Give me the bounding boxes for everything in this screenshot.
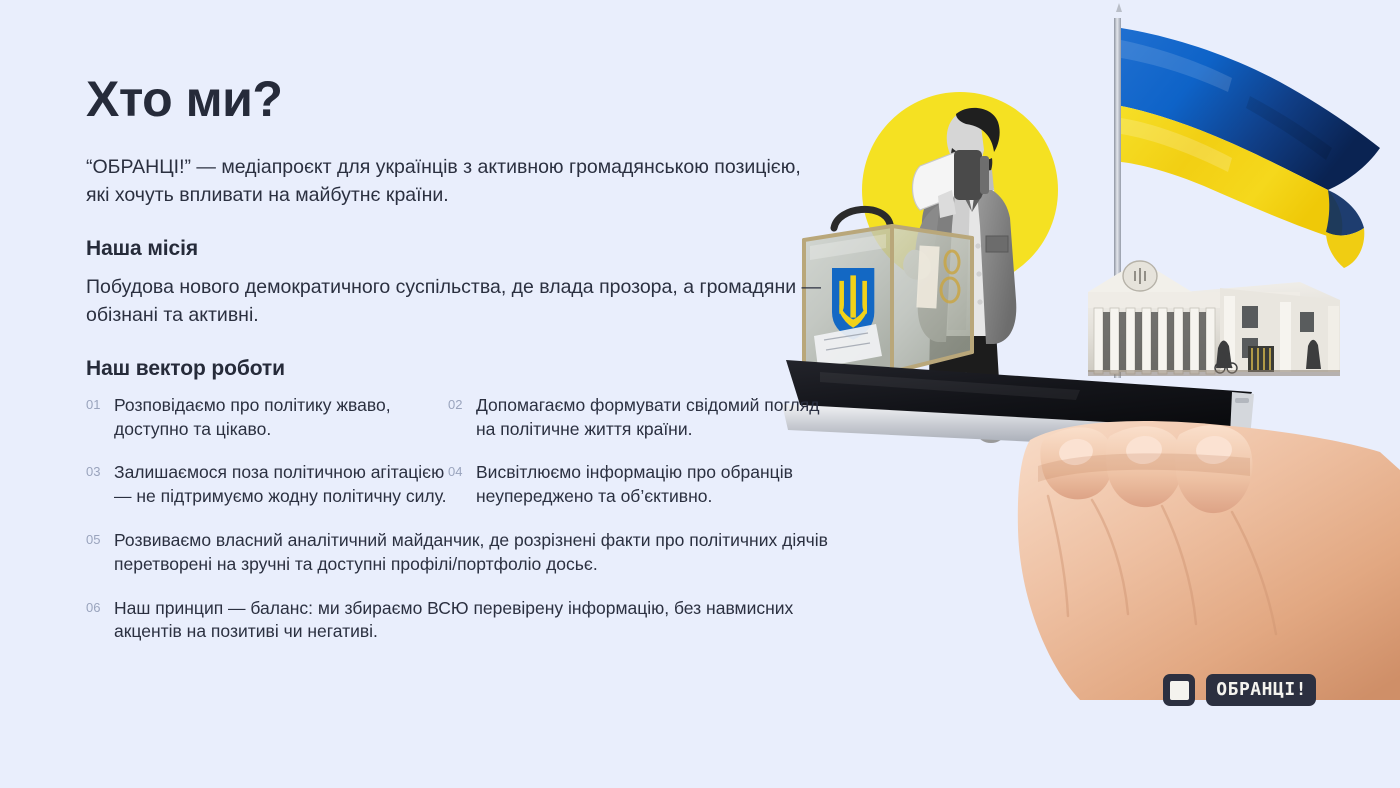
list-item: 04 Висвітлюємо інформацію про обранців н… [448, 461, 828, 509]
list-item-label: Допомагаємо формувати свідомий погляд на… [476, 394, 828, 442]
list-item-number: 03 [86, 461, 105, 478]
list-item-label: Розповідаємо про політику жваво, доступн… [114, 394, 448, 442]
logo-wordmark: ОБРАНЦІ! [1206, 674, 1316, 706]
text-content: Хто ми? “ОБРАНЦІ!” — медіапроєкт для укр… [86, 74, 856, 664]
vector-row: 05 Розвиваємо власний аналітичний майдан… [86, 529, 856, 597]
list-item-label: Висвітлюємо інформацію про обранців неуп… [476, 461, 828, 509]
brand-logo[interactable]: ОБРАНЦІ! [1163, 674, 1316, 706]
vector-heading: Наш вектор роботи [86, 357, 856, 381]
parliament-building [1088, 260, 1340, 376]
rounded-square-icon [1163, 674, 1195, 706]
rada-emblem [1123, 261, 1157, 291]
list-item-number: 05 [86, 529, 105, 546]
list-item-number: 02 [448, 394, 467, 411]
list-item-label: Залишаємося поза політичною агітацією — … [114, 461, 448, 509]
list-item-number: 01 [86, 394, 105, 411]
mission-text: Побудова нового демократичного суспільст… [86, 274, 828, 329]
slide-root: Хто ми? “ОБРАНЦІ!” — медіапроєкт для укр… [0, 0, 1400, 788]
vector-list: 01 Розповідаємо про політику жваво, дост… [86, 394, 856, 664]
mission-heading: Наша місія [86, 237, 856, 261]
list-item-number: 06 [86, 597, 105, 614]
list-item: 05 Розвиваємо власний аналітичний майдан… [86, 529, 846, 577]
list-item-label: Розвиваємо власний аналітичний майданчик… [114, 529, 846, 577]
page-title: Хто ми? [86, 74, 856, 124]
list-item: 02 Допомагаємо формувати свідомий погляд… [448, 394, 828, 442]
list-item: 03 Залишаємося поза політичною агітацією… [86, 461, 448, 509]
list-item-number: 04 [448, 461, 467, 478]
intro-paragraph: “ОБРАНЦІ!” — медіапроєкт для українців з… [86, 154, 828, 209]
list-item: 01 Розповідаємо про політику жваво, дост… [86, 394, 448, 442]
list-item: 06 Наш принцип — баланс: ми збираємо ВСЮ… [86, 597, 846, 645]
vector-row: 03 Залишаємося поза політичною агітацією… [86, 461, 856, 529]
hand [1018, 421, 1400, 700]
vector-row: 06 Наш принцип — баланс: ми збираємо ВСЮ… [86, 597, 856, 665]
list-item-label: Наш принцип — баланс: ми збираємо ВСЮ пе… [114, 597, 846, 645]
vector-row: 01 Розповідаємо про політику жваво, дост… [86, 394, 856, 462]
collage-illustration [780, 0, 1400, 700]
